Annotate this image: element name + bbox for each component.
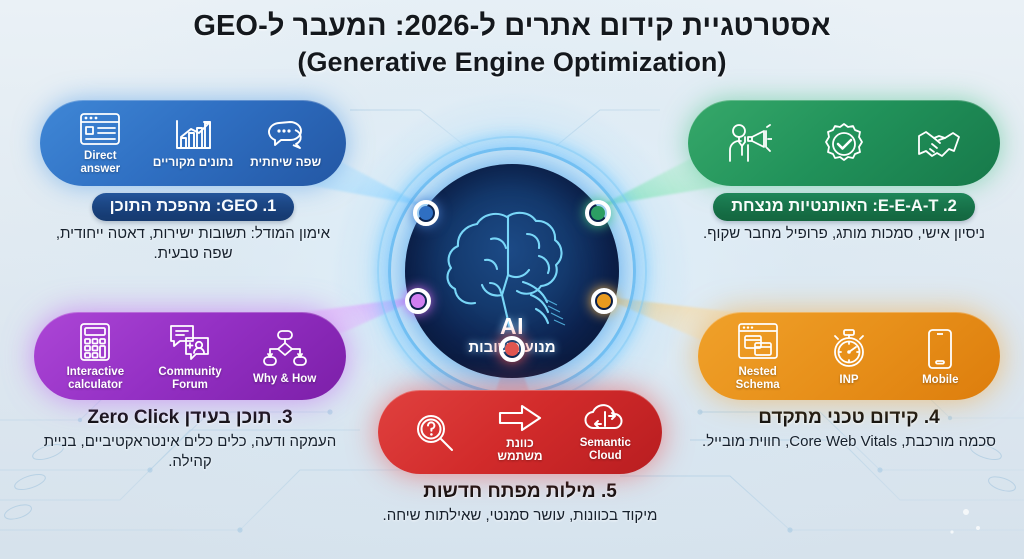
card-kw-heading: 5. מילות מפתח חדשות	[378, 481, 662, 503]
icon-tile-community: CommunityForum	[143, 322, 237, 392]
icon-label-community-forum: CommunityForum	[158, 366, 221, 392]
hub-node-tech[interactable]	[591, 288, 617, 314]
flowchart-icon	[263, 329, 307, 369]
ai-hub: AI מנוע תשובות	[393, 152, 631, 390]
icon-tile-inp: INP	[804, 328, 894, 387]
page-title: אסטרטגיית קידום אתרים ל-2026: המעבר ל-GE…	[0, 8, 1024, 80]
icon-tile-chat: שפה שיחתית	[240, 118, 332, 169]
icon-label-semantic-cloud: SemanticCloud	[580, 437, 631, 463]
card-geo-description: אימון המודל: תשובות ישירות, דאטה ייחודית…	[40, 224, 346, 264]
infographic-canvas: אסטרטגיית קידום אתרים ל-2026: המעבר ל-GE…	[0, 0, 1024, 559]
icon-tile-semantic-cloud: SemanticCloud	[563, 403, 647, 463]
stopwatch-icon	[830, 328, 868, 370]
icon-label-interactive-calculator: Interactivecalculator	[67, 366, 125, 392]
card-zero-body: 3. תוכן בעידן Zero Click העמקה ודעה, כלי…	[34, 400, 346, 472]
card-keywords[interactable]: כוונתמשתמש SemanticCloud 5. מילות מפתח ח…	[378, 390, 662, 526]
hub-node-geo[interactable]	[413, 200, 439, 226]
bar-chart-growth-icon	[172, 118, 214, 152]
handshake-icon	[915, 124, 963, 164]
icon-label-original-data: נתונים מקוריים	[153, 156, 234, 169]
card-eeat-icon-pill	[688, 100, 1000, 186]
hub-node-eeat[interactable]	[585, 200, 611, 226]
icon-tile-magnifier-question	[392, 412, 476, 454]
card-eeat[interactable]: 2. E-E-A-T: האותנטיות מנצחת ניסיון אישי,…	[688, 100, 1000, 244]
card-zero-description: העמקה ודעה, כלים כלים אינטראקטיביים, בני…	[34, 432, 346, 472]
calculator-icon	[78, 322, 112, 362]
icon-label-nested-schema: NestedSchema	[736, 366, 780, 392]
hub-node-zero[interactable]	[405, 288, 431, 314]
icon-label-direct-answer: Directanswer	[81, 150, 121, 176]
arrow-right-icon	[498, 403, 542, 433]
card-tech-icon-pill: NestedSchema INP	[698, 312, 1000, 400]
card-kw-icon-pill: כוונתמשתמש SemanticCloud	[378, 390, 662, 474]
card-eeat-body: 2. E-E-A-T: האותנטיות מנצחת ניסיון אישי,…	[688, 186, 1000, 244]
title-line-2: (Generative Engine Optimization)	[0, 45, 1024, 80]
icon-tile-flowchart: Why & How	[238, 329, 332, 386]
icon-tile-user-intent: כוונתמשתמש	[478, 403, 562, 464]
card-tech-body: 4. קידום טכני מתקדם סכמה מורכבת, Core We…	[698, 400, 1000, 452]
card-tech-description: סכמה מורכבת, Core Web Vitals, חווית מובי…	[698, 432, 1000, 452]
card-eeat-description: ניסיון אישי, סמכות מותג, פרופיל מחבר שקו…	[688, 224, 1000, 244]
card-technical[interactable]: NestedSchema INP	[698, 312, 1000, 452]
card-zero-click[interactable]: Interactivecalculator CommunityForum	[34, 312, 346, 472]
card-geo[interactable]: Directanswer נתונים מקוריים	[40, 100, 346, 264]
hub-node-kw[interactable]	[499, 336, 525, 362]
card-kw-description: מיקוד בכוונות, עושר סמנטי, שאילתות שיחה.	[378, 506, 662, 526]
mobile-phone-icon	[926, 328, 954, 370]
icon-label-why-how: Why & How	[253, 373, 316, 386]
nested-windows-icon	[737, 322, 779, 362]
icon-label-mobile: Mobile	[922, 374, 958, 387]
hub-name: AI	[393, 314, 631, 338]
icon-tile-mobile: Mobile	[895, 328, 985, 387]
card-geo-badge: 1. GEO: מהפכת התוכן	[92, 193, 295, 221]
card-tech-heading: 4. קידום טכני מתקדם	[698, 407, 1000, 429]
browser-answer-icon	[79, 112, 121, 146]
verified-badge-icon	[822, 122, 866, 166]
semantic-cloud-icon	[583, 403, 627, 433]
card-geo-body: 1. GEO: מהפכת התוכן אימון המודל: תשובות …	[40, 186, 346, 264]
card-geo-icon-pill: Directanswer נתונים מקוריים	[40, 100, 346, 186]
community-forum-icon	[168, 322, 212, 362]
icon-tile-verified	[797, 122, 891, 166]
person-megaphone-icon	[726, 121, 772, 167]
card-kw-body: 5. מילות מפתח חדשות מיקוד בכוונות, עושר …	[378, 474, 662, 526]
icon-tile-bar-chart: נתונים מקוריים	[147, 118, 239, 169]
magnifier-question-icon	[414, 412, 456, 454]
icon-tile-handshake	[892, 124, 986, 164]
card-zero-icon-pill: Interactivecalculator CommunityForum	[34, 312, 346, 400]
icon-tile-calculator: Interactivecalculator	[48, 322, 142, 392]
title-line-1: אסטרטגיית קידום אתרים ל-2026: המעבר ל-GE…	[0, 8, 1024, 45]
card-zero-heading: 3. תוכן בעידן Zero Click	[34, 407, 346, 429]
icon-label-user-intent: כוונתמשתמש	[497, 437, 542, 464]
icon-tile-person-megaphone	[702, 121, 796, 167]
card-eeat-badge: 2. E-E-A-T: האותנטיות מנצחת	[713, 193, 975, 221]
icon-tile-browser-answer: Directanswer	[54, 112, 146, 176]
icon-label-conversational: שפה שיחתית	[250, 156, 321, 169]
chat-bubbles-icon	[265, 118, 307, 152]
icon-tile-nested-schema: NestedSchema	[712, 322, 802, 392]
icon-label-inp: INP	[839, 374, 858, 387]
